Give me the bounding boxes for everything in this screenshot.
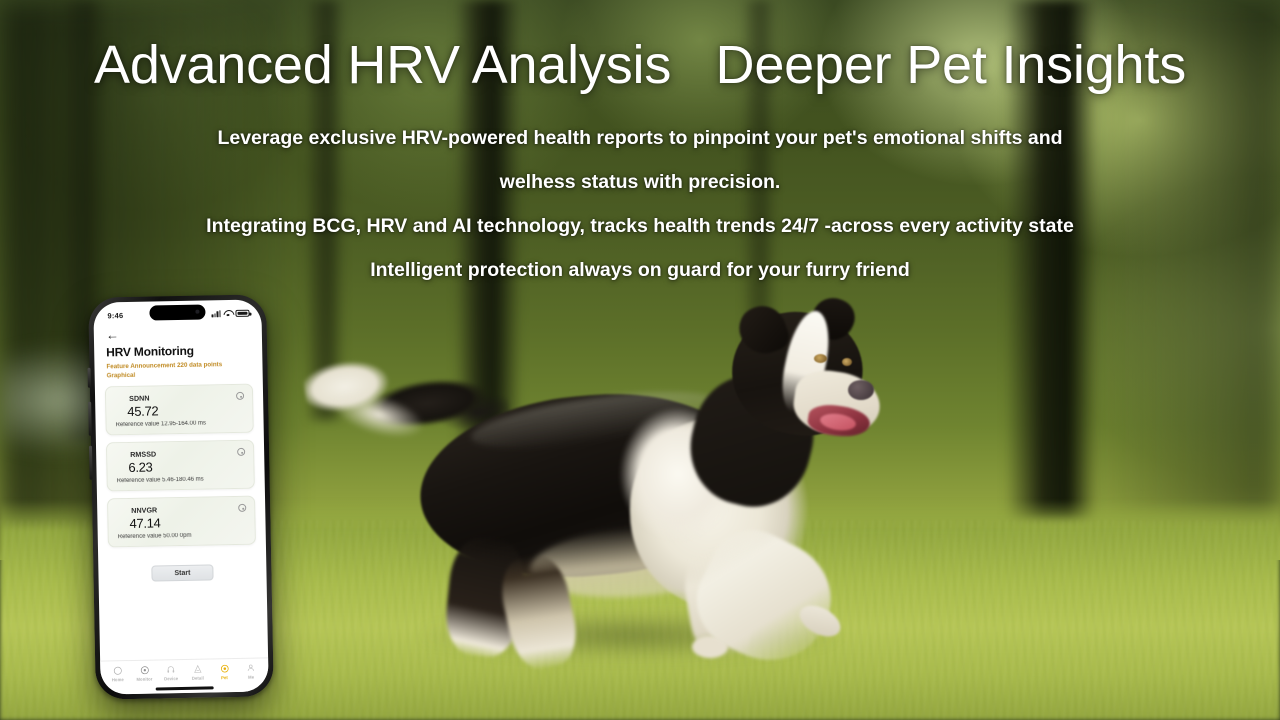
tab-pet[interactable]: Pet	[211, 664, 238, 681]
tab-label: Pet	[221, 675, 228, 680]
metric-reference-range: Reference value 50.00 0pm	[118, 532, 246, 540]
metric-reference-range: Reference value 5.46-180.46 ms	[117, 476, 245, 484]
status-bar-indicators	[211, 309, 249, 317]
copy-line-3: Integrating BCG, HRV and AI technology, …	[0, 204, 1280, 248]
running-border-collie-dog	[300, 288, 880, 660]
tab-home[interactable]: Home	[104, 666, 131, 683]
status-bar: 9:46	[93, 299, 261, 324]
metric-reference-range: Reference value 12.95-164.00 ms	[116, 420, 244, 428]
metric-value: 6.23	[116, 458, 244, 475]
dynamic-island	[149, 304, 205, 320]
tab-label: Home	[112, 677, 124, 682]
phone-volume-up-button[interactable]	[88, 402, 92, 436]
metric-value: 45.72	[115, 402, 243, 419]
start-button[interactable]: Start	[151, 564, 213, 581]
dog-eye-left	[814, 354, 827, 363]
dog-nose	[848, 380, 874, 400]
circle-home-icon	[113, 666, 122, 675]
phone-screen: 9:46 ← HRV Monitoring Feature Announceme…	[93, 299, 268, 694]
paw-pet-icon	[220, 664, 229, 673]
person-me-icon	[246, 664, 255, 673]
metric-card-rmssd[interactable]: RMSSD 6.23 Reference value 5.46-180.46 m…	[106, 440, 255, 492]
phone-mockup: 9:46 ← HRV Monitoring Feature Announceme…	[88, 294, 274, 699]
page-headline: Advanced HRV Analysis Deeper Pet Insight…	[0, 34, 1280, 96]
metrics-list: SDNN 45.72 Reference value 12.95-164.00 …	[95, 377, 267, 582]
tab-device[interactable]: Device	[158, 665, 185, 682]
wifi-icon	[223, 309, 232, 316]
copy-line-2: welhess status with precision.	[0, 160, 1280, 204]
tab-me[interactable]: Me	[238, 663, 265, 680]
tab-label: Monitor	[136, 677, 152, 682]
tab-label: Me	[248, 675, 254, 680]
tab-label: Device	[164, 676, 178, 681]
metric-card-nnvgr[interactable]: NNVGR 47.14 Reference value 50.00 0pm	[107, 496, 256, 548]
status-bar-time: 9:46	[107, 311, 123, 320]
phone-volume-down-button[interactable]	[89, 446, 93, 480]
metric-value: 47.14	[117, 514, 245, 531]
headset-device-icon	[166, 665, 175, 674]
start-button-row: Start	[108, 564, 256, 583]
cellular-signal-icon	[211, 310, 220, 317]
dog-eye-right	[842, 358, 852, 366]
tab-monitor[interactable]: Monitor	[131, 665, 158, 682]
chart-detail-icon	[193, 665, 202, 674]
battery-icon	[235, 309, 249, 316]
marketing-copy-block: Leverage exclusive HRV-powered health re…	[0, 116, 1280, 292]
metric-card-sdnn[interactable]: SDNN 45.72 Reference value 12.95-164.00 …	[105, 384, 254, 436]
target-monitor-icon	[140, 666, 149, 675]
copy-line-1: Leverage exclusive HRV-powered health re…	[0, 116, 1280, 160]
tab-detail[interactable]: Detail	[184, 664, 211, 681]
tab-label: Detail	[192, 676, 204, 681]
page-subtitle: Feature Announcement 220 data points Gra…	[94, 356, 262, 380]
copy-line-4: Intelligent protection always on guard f…	[0, 248, 1280, 292]
phone-mute-switch[interactable]	[88, 368, 91, 388]
